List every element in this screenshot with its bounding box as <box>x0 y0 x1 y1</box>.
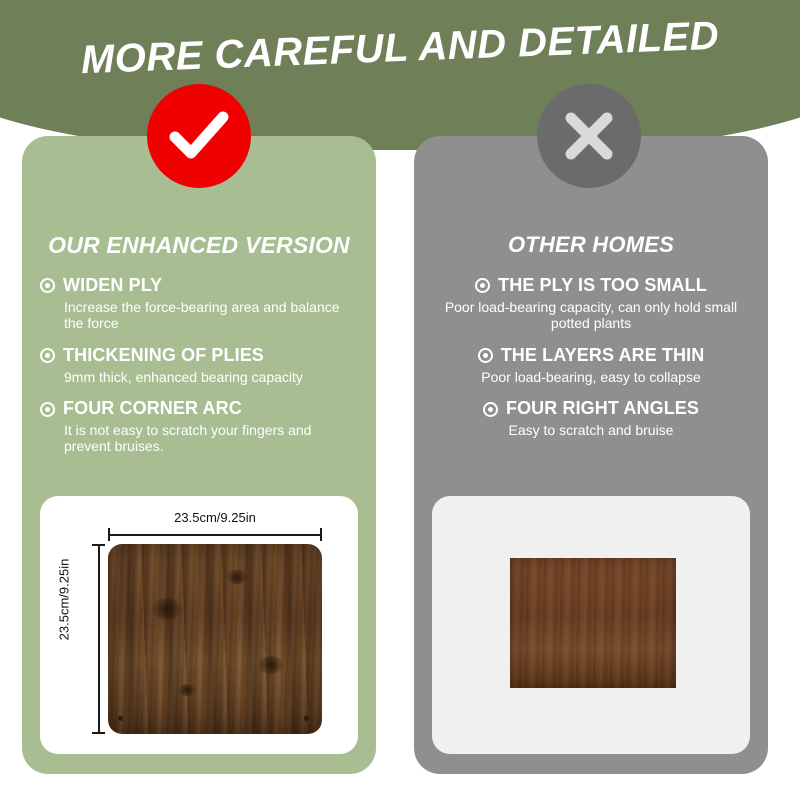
feature-title: THE LAYERS ARE THIN <box>501 346 705 366</box>
header-banner: MORE CAREFUL AND DETAILED <box>0 0 800 150</box>
feature-heading: FOUR RIGHT ANGLES <box>432 399 750 419</box>
feature-title: WIDEN PLY <box>63 276 162 296</box>
feature-heading: WIDEN PLY <box>40 276 358 296</box>
list-item: FOUR RIGHT ANGLES Easy to scratch and br… <box>432 399 750 438</box>
height-dimension-label: 23.5cm/9.25in <box>57 540 72 660</box>
radio-dot-icon <box>478 348 493 363</box>
right-panel-title: OTHER HOMES <box>414 232 768 258</box>
cross-icon <box>562 109 616 163</box>
radio-dot-icon <box>483 402 498 417</box>
left-feature-list: WIDEN PLY Increase the force-bearing are… <box>22 276 376 469</box>
feature-heading: THICKENING OF PLIES <box>40 346 358 366</box>
feature-description: Easy to scratch and bruise <box>432 422 750 439</box>
radio-dot-icon <box>40 278 55 293</box>
list-item: FOUR CORNER ARC It is not easy to scratc… <box>40 399 358 455</box>
feature-description: Poor load-bearing capacity, can only hol… <box>432 299 750 332</box>
feature-title: FOUR CORNER ARC <box>63 399 242 419</box>
right-feature-list: THE PLY IS TOO SMALL Poor load-bearing c… <box>414 276 768 452</box>
left-panel-title: OUR ENHANCED VERSION <box>22 232 376 259</box>
feature-description: Poor load-bearing, easy to collapse <box>432 369 750 386</box>
panel-other-homes: OTHER HOMES THE PLY IS TOO SMALL Poor lo… <box>414 136 768 774</box>
feature-title: THE PLY IS TOO SMALL <box>498 276 707 296</box>
feature-title: FOUR RIGHT ANGLES <box>506 399 699 419</box>
list-item: WIDEN PLY Increase the force-bearing are… <box>40 276 358 332</box>
feature-description: 9mm thick, enhanced bearing capacity <box>40 369 358 386</box>
width-dimension-label: 23.5cm/9.25in <box>108 510 322 525</box>
radio-dot-icon <box>40 402 55 417</box>
check-badge <box>147 84 251 188</box>
radio-dot-icon <box>475 278 490 293</box>
width-dimension-arrow <box>108 528 322 540</box>
list-item: THE PLY IS TOO SMALL Poor load-bearing c… <box>432 276 750 332</box>
cross-badge <box>537 84 641 188</box>
list-item: THICKENING OF PLIES 9mm thick, enhanced … <box>40 346 358 385</box>
left-photo-card: 23.5cm/9.25in 23.5cm/9.25in <box>40 496 358 754</box>
check-icon <box>169 111 229 161</box>
feature-heading: THE LAYERS ARE THIN <box>432 346 750 366</box>
list-item: THE LAYERS ARE THIN Poor load-bearing, e… <box>432 346 750 385</box>
right-photo-card <box>432 496 750 754</box>
radio-dot-icon <box>40 348 55 363</box>
feature-heading: THE PLY IS TOO SMALL <box>432 276 750 296</box>
feature-description: It is not easy to scratch your fingers a… <box>40 422 358 455</box>
rounded-wooden-board-photo <box>108 544 322 734</box>
feature-heading: FOUR CORNER ARC <box>40 399 358 419</box>
square-wooden-plank-photo <box>510 558 676 688</box>
comparison-infographic: MORE CAREFUL AND DETAILED OUR ENHANCED V… <box>0 0 800 800</box>
panel-our-enhanced-version: OUR ENHANCED VERSION WIDEN PLY Increase … <box>22 136 376 774</box>
height-dimension-arrow <box>92 544 104 734</box>
feature-description: Increase the force-bearing area and bala… <box>40 299 358 332</box>
feature-title: THICKENING OF PLIES <box>63 346 264 366</box>
